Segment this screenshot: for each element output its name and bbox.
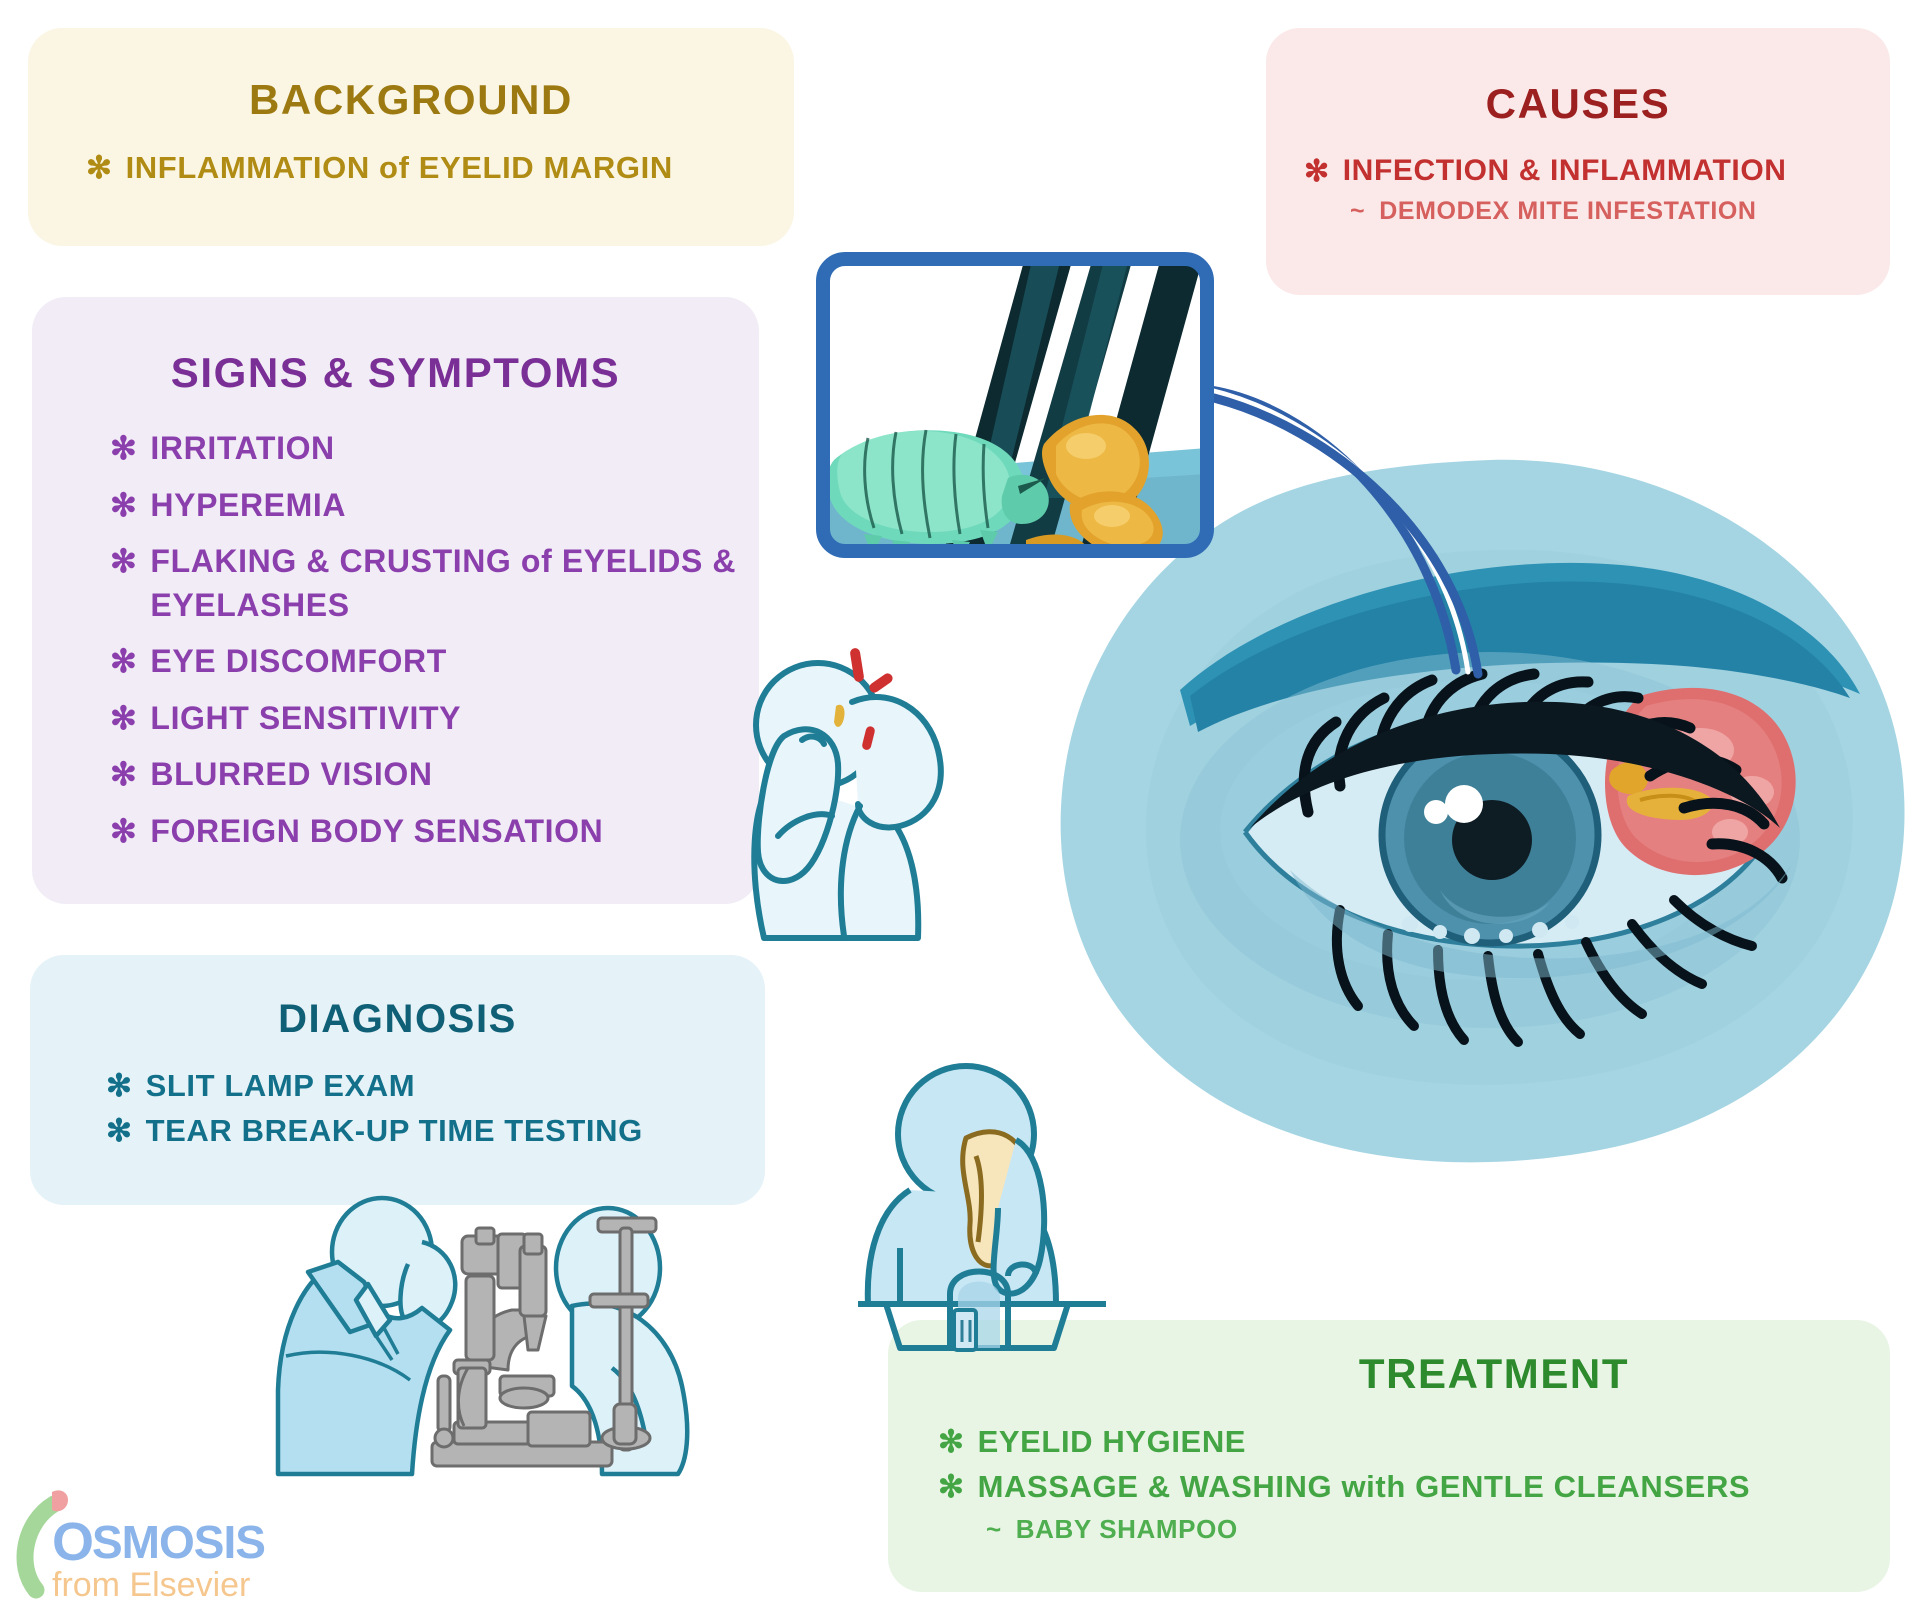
subitem-label: BABY SHAMPOO [1016, 1514, 1238, 1545]
list-item: ✻EYELID HYGIENE [938, 1424, 1890, 1460]
list-item: ✻EYE DISCOMFORT [110, 640, 759, 684]
list-item-label: FOREIGN BODY SENSATION [150, 810, 603, 854]
asterisk-icon: ✻ [110, 810, 137, 854]
list-item-label: BLURRED VISION [150, 753, 432, 797]
list-item-label: EYELID HYGIENE [978, 1424, 1247, 1460]
tilde-icon: ~ [1350, 197, 1365, 226]
card-diagnosis-list: ✻SLIT LAMP EXAM ✻TEAR BREAK-UP TIME TEST… [30, 1068, 765, 1149]
asterisk-icon: ✻ [110, 484, 137, 528]
list-item: ✻FOREIGN BODY SENSATION [110, 810, 759, 854]
asterisk-icon: ✻ [110, 697, 137, 741]
subitem-label: DEMODEX MITE INFESTATION [1379, 197, 1756, 226]
card-causes-title: CAUSES [1266, 80, 1890, 128]
osmosis-logo: O SMOSIS from Elsevier [8, 1484, 338, 1606]
card-treatment-list: ✻EYELID HYGIENE ✻MASSAGE & WASHING with … [888, 1424, 1890, 1505]
list-item: ✻SLIT LAMP EXAM [106, 1068, 765, 1104]
demodex-mite-inset [812, 248, 1218, 562]
card-background-list: ✻ INFLAMMATION of EYELID MARGIN [28, 150, 794, 186]
person-washing-face-illustration [858, 1048, 1158, 1360]
card-signs-list: ✻IRRITATION ✻HYPEREMIA ✻FLAKING & CRUSTI… [32, 427, 759, 853]
list-item-label: SLIT LAMP EXAM [146, 1068, 416, 1104]
logo-o-letter: O [52, 1512, 94, 1572]
list-item: ✻HYPEREMIA [110, 484, 759, 528]
card-treatment: TREATMENT ✻EYELID HYGIENE ✻MASSAGE & WAS… [888, 1320, 1890, 1592]
logo-arc-icon [25, 1504, 54, 1590]
card-background: BACKGROUND ✻ INFLAMMATION of EYELID MARG… [28, 28, 794, 246]
asterisk-icon: ✻ [110, 540, 137, 584]
asterisk-icon: ✻ [938, 1469, 965, 1505]
asterisk-icon: ✻ [110, 427, 137, 471]
asterisk-icon: ✻ [110, 640, 137, 684]
card-causes-list: ✻ INFECTION & INFLAMMATION [1266, 154, 1890, 189]
logo-tagline: from Elsevier [52, 1566, 250, 1604]
list-item-label: FLAKING & CRUSTING of EYELIDS & EYELASHE… [150, 540, 759, 627]
card-diagnosis: DIAGNOSIS ✻SLIT LAMP EXAM ✻TEAR BREAK-UP… [30, 955, 765, 1205]
list-item-label: MASSAGE & WASHING with GENTLE CLEANSERS [978, 1469, 1751, 1505]
asterisk-icon: ✻ [1304, 154, 1330, 189]
logo-wordmark: SMOSIS [92, 1516, 265, 1568]
list-item-label: IRRITATION [150, 427, 334, 471]
tilde-icon: ~ [986, 1514, 1002, 1545]
list-item: ✻MASSAGE & WASHING with GENTLE CLEANSERS [938, 1469, 1890, 1505]
card-treatment-subitem: ~ BABY SHAMPOO [888, 1514, 1890, 1545]
card-signs-symptoms: SIGNS & SYMPTOMS ✻IRRITATION ✻HYPEREMIA … [32, 297, 759, 904]
person-rubbing-eye-illustration [740, 640, 1010, 950]
asterisk-icon: ✻ [106, 1068, 133, 1104]
list-item: ✻LIGHT SENSITIVITY [110, 697, 759, 741]
osmosis-logo-mark: O SMOSIS from Elsevier [8, 1484, 338, 1606]
slit-lamp-exam-illustration [272, 1190, 772, 1510]
asterisk-icon: ✻ [938, 1424, 965, 1460]
list-item-label: INFLAMMATION of EYELID MARGIN [126, 150, 673, 186]
card-background-title: BACKGROUND [28, 76, 794, 124]
list-item: ✻IRRITATION [110, 427, 759, 471]
asterisk-icon: ✻ [110, 753, 137, 797]
card-diagnosis-title: DIAGNOSIS [30, 997, 765, 1042]
list-item: ✻FLAKING & CRUSTING of EYELIDS & EYELASH… [110, 540, 759, 627]
card-signs-title: SIGNS & SYMPTOMS [32, 349, 759, 397]
list-item-label: TEAR BREAK-UP TIME TESTING [146, 1113, 643, 1149]
list-item-label: HYPEREMIA [150, 484, 346, 528]
list-item-label: LIGHT SENSITIVITY [150, 697, 461, 741]
card-causes-subitem: ~ DEMODEX MITE INFESTATION [1266, 197, 1890, 226]
list-item: ✻ INFLAMMATION of EYELID MARGIN [86, 150, 794, 186]
infographic-canvas: BACKGROUND ✻ INFLAMMATION of EYELID MARG… [0, 0, 1920, 1611]
card-causes: CAUSES ✻ INFECTION & INFLAMMATION ~ DEMO… [1266, 28, 1890, 295]
asterisk-icon: ✻ [86, 150, 113, 186]
list-item: ✻TEAR BREAK-UP TIME TESTING [106, 1113, 765, 1149]
logo-dot-icon [52, 1490, 68, 1511]
asterisk-icon: ✻ [106, 1113, 133, 1149]
list-item-label: EYE DISCOMFORT [150, 640, 446, 684]
list-item: ✻ INFECTION & INFLAMMATION [1304, 154, 1890, 189]
list-item-label: INFECTION & INFLAMMATION [1343, 154, 1787, 188]
list-item: ✻BLURRED VISION [110, 753, 759, 797]
